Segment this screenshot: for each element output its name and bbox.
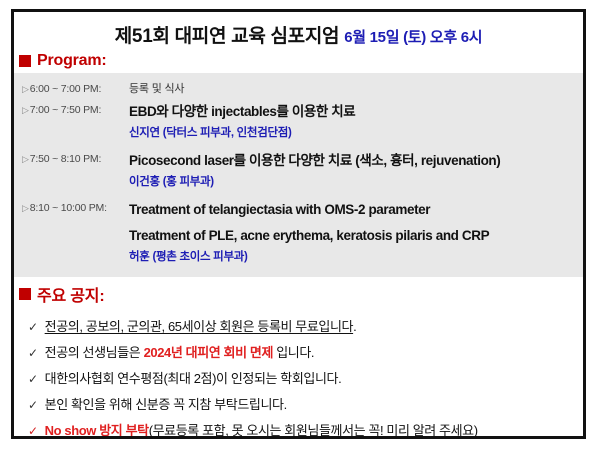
check-icon: ✓ <box>28 396 38 415</box>
check-icon: ✓ <box>28 344 38 363</box>
program-speaker: 허훈 (평촌 초이스 피부과) <box>129 247 579 267</box>
notice-text-tail: 입니다. <box>273 345 314 360</box>
triangle-bullet-icon: ▷ <box>22 154 29 164</box>
notice-text: 대한의사협회 연수평점(최대 2점)이 인정되는 학회입니다. <box>45 369 342 388</box>
poster-date: 6월 15일 (토) 오후 6시 <box>344 29 482 46</box>
notice-text: 전공의 선생님들은 2024년 대피연 회비 면제 입니다. <box>45 343 314 362</box>
notice-item: ✓ 대한의사협회 연수평점(최대 2점)이 인정되는 학회입니다. <box>14 366 583 392</box>
check-icon: ✓ <box>28 422 38 439</box>
notice-heading: 주요 공지: <box>14 277 583 309</box>
program-time: ▷8:10 ~ 10:00 PM: <box>14 200 129 217</box>
program-row: ▷7:00 ~ 7:50 PM: EBD와 다양한 injectables를 이… <box>14 100 583 145</box>
program-block: ▷6:00 ~ 7:00 PM: 등록 및 식사 ▷7:00 ~ 7:50 PM… <box>14 73 583 277</box>
notice-text: 본인 확인을 위해 신분증 꼭 지참 부탁드립니다. <box>45 395 287 414</box>
program-heading: Program: <box>14 50 583 73</box>
program-body: 등록 및 식사 <box>129 81 583 98</box>
triangle-bullet-icon: ▷ <box>22 203 29 213</box>
notice-item: ✓ 전공의 선생님들은 2024년 대피연 회비 면제 입니다. <box>14 340 583 366</box>
triangle-bullet-icon: ▷ <box>22 105 29 115</box>
notice-text: No show 방지 부탁(무료등록 포함, 못 오시는 회원님들께서는 꼭! … <box>45 421 478 439</box>
program-time-label: 8:10 ~ 10:00 PM: <box>30 202 107 214</box>
notice-text-pre: 전공의 선생님들은 <box>45 345 144 360</box>
check-icon: ✓ <box>28 318 38 337</box>
program-time: ▷7:00 ~ 7:50 PM: <box>14 102 129 119</box>
red-square-bullet-icon <box>19 288 31 300</box>
notice-block: ✓ 전공의, 공보의, 군의관, 65세이상 회원은 등록비 무료입니다. ✓ … <box>14 309 583 439</box>
notice-heading-label: 주요 공지: <box>37 282 104 306</box>
program-speaker: 이건홍 (홍 피부과) <box>129 172 579 192</box>
notice-text-underlined: 전공의, 공보의, 군의관, 65세이상 회원은 등록비 무료입니다 <box>45 319 353 334</box>
program-title: Treatment of telangiectasia with OMS-2 p… <box>129 200 579 220</box>
program-row: ▷8:10 ~ 10:00 PM: Treatment of telangiec… <box>14 198 583 269</box>
program-row: ▷6:00 ~ 7:00 PM: 등록 및 식사 <box>14 79 583 100</box>
triangle-bullet-icon: ▷ <box>22 84 29 94</box>
program-time: ▷7:50 ~ 8:10 PM: <box>14 151 129 168</box>
notice-text-tail: . <box>353 319 356 334</box>
program-body: Picosecond laser를 이용한 다양한 치료 (색소, 흉터, re… <box>129 151 583 192</box>
notice-item: ✓ 전공의, 공보의, 군의관, 65세이상 회원은 등록비 무료입니다. <box>14 314 583 340</box>
notice-text: 전공의, 공보의, 군의관, 65세이상 회원은 등록비 무료입니다. <box>45 317 357 336</box>
program-time-label: 7:50 ~ 8:10 PM: <box>30 153 101 165</box>
program-body: EBD와 다양한 injectables를 이용한 치료 신지연 (닥터스 피부… <box>129 102 583 143</box>
program-title-secondary: Treatment of PLE, acne erythema, keratos… <box>129 226 579 246</box>
program-title: EBD와 다양한 injectables를 이용한 치료 <box>129 102 579 122</box>
program-title: Picosecond laser를 이용한 다양한 치료 (색소, 흉터, re… <box>129 151 579 171</box>
notice-text-tail: (무료등록 포함, 못 오시는 회원님들께서는 꼭! 미리 알려 주세요) <box>149 423 478 438</box>
check-icon: ✓ <box>28 370 38 389</box>
program-time-label: 6:00 ~ 7:00 PM: <box>30 83 101 95</box>
notice-item: ✓ 본인 확인을 위해 신분증 꼭 지참 부탁드립니다. <box>14 392 583 418</box>
symposium-poster: 제51회 대피연 교육 심포지엄6월 15일 (토) 오후 6시 Program… <box>11 9 586 439</box>
program-speaker: 신지연 (닥터스 피부과, 인천검단점) <box>129 123 579 143</box>
notice-text-highlight: No show 방지 부탁 <box>45 423 149 438</box>
program-plain-title: 등록 및 식사 <box>129 81 579 98</box>
poster-title: 제51회 대피연 교육 심포지엄 <box>115 26 339 47</box>
red-square-bullet-icon <box>19 55 31 67</box>
poster-title-row: 제51회 대피연 교육 심포지엄6월 15일 (토) 오후 6시 <box>14 12 583 50</box>
program-heading-label: Program: <box>37 52 107 70</box>
program-time-label: 7:00 ~ 7:50 PM: <box>30 104 101 116</box>
notice-text-highlight: 2024년 대피연 회비 면제 <box>144 345 273 360</box>
program-time: ▷6:00 ~ 7:00 PM: <box>14 81 129 98</box>
program-body: Treatment of telangiectasia with OMS-2 p… <box>129 200 583 267</box>
program-row: ▷7:50 ~ 8:10 PM: Picosecond laser를 이용한 다… <box>14 149 583 194</box>
notice-item: ✓ No show 방지 부탁(무료등록 포함, 못 오시는 회원님들께서는 꼭… <box>14 418 583 439</box>
